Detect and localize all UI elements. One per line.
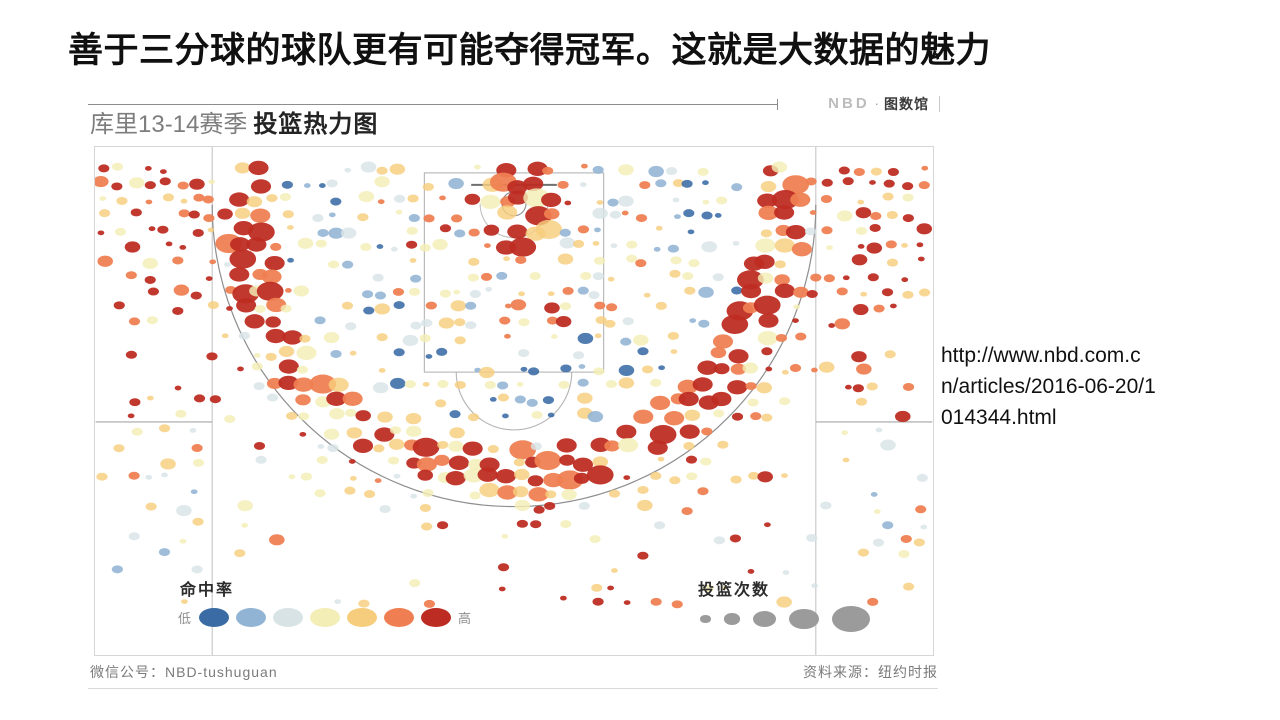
shot-zone-marker	[717, 441, 728, 449]
shot-zone-marker	[283, 210, 294, 218]
shot-zone-marker	[229, 249, 256, 268]
shot-zone-marker	[157, 226, 168, 234]
shot-zone-marker	[342, 261, 353, 269]
shot-zone-marker	[463, 441, 483, 455]
shot-zone-marker	[517, 382, 524, 387]
shot-zone-marker	[178, 182, 189, 190]
shot-zone-marker	[856, 363, 872, 374]
shot-zone-marker	[637, 347, 648, 355]
shot-zone-marker	[374, 176, 390, 187]
shot-zone-marker	[543, 396, 554, 404]
shot-zone-marker	[698, 287, 714, 298]
shot-zone-marker	[226, 306, 233, 311]
shot-zone-marker	[887, 211, 898, 219]
shot-zone-marker	[561, 489, 577, 500]
shot-zone-marker	[409, 288, 420, 296]
shot-zone-marker	[297, 366, 308, 374]
shot-zone-marker	[793, 287, 809, 298]
shot-zone-marker	[666, 167, 677, 175]
shot-zone-marker	[783, 570, 790, 575]
shot-zone-marker	[622, 211, 629, 216]
shot-zone-marker	[903, 214, 914, 222]
brand-separator: ·	[875, 96, 879, 112]
shot-zone-marker	[314, 316, 325, 324]
shot-zone-marker	[131, 208, 142, 216]
brand-publisher: 图数馆	[884, 96, 929, 112]
shot-zone-marker	[531, 442, 542, 450]
shot-zone-marker	[792, 242, 812, 256]
shot-zone-marker	[129, 177, 145, 188]
shot-zone-marker	[394, 348, 405, 356]
shot-zone-marker	[485, 381, 496, 389]
legend-fg-title: 命中率	[178, 576, 472, 600]
legend-attempts-dot-1	[724, 613, 741, 625]
shot-zone-marker	[618, 196, 634, 207]
shot-zone-marker	[775, 238, 795, 252]
shot-zone-marker	[237, 500, 253, 511]
shot-zone-marker	[327, 179, 338, 187]
shot-zone-marker	[548, 413, 555, 418]
shot-zone-marker	[790, 193, 810, 207]
shot-zone-marker	[841, 430, 848, 435]
shot-zone-marker	[714, 363, 730, 374]
shot-zone-marker	[286, 412, 297, 420]
shot-zone-marker	[342, 302, 353, 310]
shot-zone-marker	[406, 241, 417, 249]
shot-zone-marker	[580, 272, 591, 280]
shot-zone-marker	[147, 396, 154, 401]
shot-zone-marker	[350, 476, 357, 481]
shot-zone-marker	[299, 432, 306, 437]
shot-zone-marker	[374, 303, 390, 314]
legend-fg-swatch-2	[273, 608, 303, 627]
shot-zone-marker	[353, 439, 373, 453]
shot-zone-marker	[917, 223, 933, 234]
shot-zone-marker	[901, 277, 908, 282]
shot-zone-marker	[454, 229, 465, 237]
shot-zone-marker	[728, 349, 748, 363]
header-tick	[777, 99, 778, 110]
shot-zone-marker	[408, 195, 419, 203]
shot-zone-marker	[432, 239, 448, 250]
shot-zone-marker	[731, 183, 742, 191]
shot-zone-marker	[593, 367, 604, 375]
shot-zone-marker	[730, 476, 741, 484]
shot-zone-marker	[497, 381, 508, 389]
shot-zone-marker	[407, 227, 418, 235]
shot-zone-marker	[623, 317, 634, 325]
shot-zone-marker	[362, 290, 373, 298]
shot-zone-marker	[344, 487, 355, 495]
shot-zone-marker	[921, 166, 928, 171]
shot-zone-marker	[317, 444, 324, 449]
shot-zone-marker	[237, 367, 244, 372]
shot-zone-marker	[465, 321, 476, 329]
shot-zone-marker	[563, 287, 574, 295]
shot-zone-marker	[507, 224, 527, 238]
shot-zone-marker	[125, 241, 141, 252]
shot-zone-marker	[654, 247, 661, 252]
shot-zone-marker	[282, 181, 293, 189]
shot-zone-marker	[558, 181, 569, 189]
shot-zone-marker	[626, 255, 637, 263]
brand-name: NBD	[828, 96, 870, 112]
shot-zone-marker	[501, 534, 508, 539]
shot-zone-marker	[192, 565, 203, 573]
shot-zone-marker	[852, 254, 868, 265]
shot-zone-marker	[420, 334, 431, 342]
shot-zone-marker	[871, 492, 878, 497]
shot-zone-marker	[807, 290, 818, 298]
shot-zone-marker	[548, 291, 555, 296]
shot-zone-marker	[901, 243, 908, 248]
shot-zone-marker	[394, 474, 401, 479]
shot-zone-marker	[413, 438, 440, 457]
shot-zone-marker	[498, 394, 509, 402]
shot-zone-marker	[867, 382, 878, 390]
shot-zone-marker	[330, 350, 341, 358]
shot-zone-marker	[578, 333, 594, 344]
shot-zone-marker	[839, 167, 850, 175]
shot-zone-marker	[163, 193, 174, 201]
shot-zone-marker	[192, 518, 203, 526]
shot-zone-marker	[266, 194, 277, 202]
shot-zone-marker	[594, 257, 605, 265]
shot-zone-marker	[142, 258, 158, 269]
shot-zone-marker	[449, 427, 465, 438]
shot-zone-marker	[664, 411, 684, 425]
shot-zone-marker	[451, 214, 462, 222]
shot-zone-marker	[521, 367, 528, 372]
shot-zone-marker	[902, 194, 913, 202]
shot-zone-marker	[608, 277, 615, 282]
shot-zone-marker	[129, 472, 140, 480]
shot-zone-marker	[588, 411, 604, 422]
shot-zone-marker	[854, 168, 865, 176]
shot-zone-marker	[579, 364, 586, 369]
shot-zone-marker	[559, 455, 575, 466]
shot-zone-marker	[396, 210, 403, 215]
shot-zone-marker	[222, 333, 229, 338]
shot-zone-marker	[873, 539, 884, 547]
shot-zone-marker	[888, 168, 899, 176]
infographic-card: NBD · 图数馆 库里13-14赛季投篮热力图 命中率 低 高 投篮次数 微信…	[84, 96, 942, 696]
shot-zone-marker	[281, 305, 292, 313]
shot-zone-marker	[96, 473, 107, 481]
shot-zone-marker	[189, 211, 200, 219]
header-rule	[88, 104, 778, 105]
shot-zone-marker	[497, 205, 517, 219]
shot-zone-marker	[733, 241, 740, 246]
shot-zone-marker	[146, 503, 157, 511]
legend-attempts-dot-4	[832, 606, 870, 632]
shot-zone-marker	[713, 273, 724, 281]
shot-zone-marker	[319, 183, 326, 188]
shot-zone-marker	[147, 316, 158, 324]
shot-zone-marker	[670, 256, 681, 264]
shot-zone-marker	[282, 330, 302, 344]
shot-zone-marker	[149, 226, 156, 231]
shot-zone-marker	[593, 166, 604, 174]
shot-zone-marker	[714, 536, 725, 544]
shot-zone-marker	[619, 377, 635, 388]
shot-zone-marker	[757, 471, 773, 482]
shot-zone-marker	[560, 364, 571, 372]
shot-zone-marker	[446, 471, 466, 485]
footer-wechat: 微信公号：NBD-tushuguan	[90, 662, 278, 682]
shot-zone-marker	[496, 469, 516, 483]
shot-zone-marker	[405, 380, 416, 388]
shot-zone-marker	[764, 522, 771, 527]
shot-zone-marker	[409, 214, 420, 222]
shot-zone-marker	[776, 334, 787, 342]
shot-zone-marker	[474, 165, 481, 170]
shot-zone-marker	[564, 201, 571, 206]
shot-zone-marker	[192, 444, 203, 452]
shot-zone-marker	[597, 200, 604, 205]
shot-zone-marker	[265, 316, 281, 327]
shot-zone-marker	[345, 409, 356, 417]
shot-zone-marker	[349, 459, 356, 464]
shot-zone-marker	[682, 507, 693, 515]
shot-zone-marker	[786, 225, 806, 239]
shot-zone-marker	[594, 302, 605, 310]
shot-zone-marker	[129, 317, 140, 325]
shot-zone-marker	[246, 237, 266, 251]
shot-zone-marker	[701, 212, 712, 220]
shot-zone-marker	[126, 271, 137, 279]
shot-zone-marker	[481, 273, 492, 281]
shot-zone-marker	[682, 272, 693, 280]
shot-zone-marker	[713, 409, 724, 417]
shot-zone-marker	[901, 535, 912, 543]
legend-fg-swatch-4	[347, 608, 377, 627]
infographic-header: NBD · 图数馆 库里13-14赛季投篮热力图	[84, 96, 942, 148]
shot-zone-marker	[343, 392, 363, 406]
shot-zone-marker	[639, 181, 650, 189]
shot-zone-marker	[360, 243, 371, 251]
shot-zone-marker	[793, 304, 800, 309]
shot-zone-marker	[518, 291, 525, 296]
shot-zone-marker	[684, 287, 695, 295]
shot-zone-marker	[843, 458, 850, 463]
shot-zone-marker	[287, 258, 294, 263]
shot-zone-marker	[254, 442, 265, 450]
shot-zone-marker	[265, 256, 285, 270]
shot-zone-marker	[556, 316, 572, 327]
shot-zone-marker	[449, 410, 460, 418]
legend-attempts-dot-3	[789, 609, 818, 629]
shot-zone-marker	[518, 318, 529, 326]
shot-zone-marker	[606, 380, 617, 388]
shot-zone-marker	[541, 193, 561, 207]
shot-zone-marker	[229, 267, 249, 281]
shot-zone-marker	[544, 302, 560, 313]
shot-zone-marker	[317, 456, 328, 464]
shot-zone-marker	[406, 426, 422, 437]
shot-zone-marker	[514, 469, 530, 480]
shot-zone-marker	[822, 179, 833, 187]
shot-zone-marker	[679, 392, 699, 406]
chart-title-main: 投篮热力图	[253, 111, 378, 138]
shot-zone-marker	[702, 180, 709, 185]
shot-zone-marker	[420, 244, 431, 252]
shot-zone-marker	[224, 415, 235, 423]
shot-zone-marker	[732, 413, 743, 421]
slide-title: 善于三分球的球队更有可能夺得冠军。这就是大数据的魅力	[68, 28, 1108, 74]
shot-zone-marker	[112, 163, 123, 171]
shot-zone-marker	[453, 290, 460, 295]
shot-zone-marker	[518, 349, 529, 357]
shot-zone-marker	[557, 438, 577, 452]
legend-fg-high-label: 高	[458, 608, 472, 627]
shot-zone-marker	[743, 362, 759, 373]
shot-zone-marker	[887, 259, 898, 267]
shot-zone-marker	[375, 292, 386, 300]
shot-zone-marker	[748, 569, 755, 574]
shot-zone-marker	[488, 445, 499, 453]
shot-zone-marker	[145, 475, 152, 480]
shot-zone-marker	[683, 442, 694, 450]
shot-zone-marker	[239, 332, 250, 340]
shot-zone-marker	[810, 274, 821, 282]
shot-zone-marker	[403, 335, 419, 346]
shot-zone-marker	[635, 259, 646, 267]
shot-zone-marker	[206, 276, 213, 281]
shot-zone-marker	[648, 441, 668, 455]
shot-zone-marker	[410, 322, 421, 330]
shot-zone-marker	[426, 302, 437, 310]
shot-zone-marker	[711, 347, 727, 358]
shot-zone-marker	[673, 198, 680, 203]
shot-zone-marker	[299, 335, 310, 343]
shot-zone-marker	[451, 300, 467, 311]
shot-zone-marker	[843, 177, 854, 185]
shot-zone-marker	[669, 476, 680, 484]
shot-zone-marker	[535, 220, 562, 239]
shot-zone-marker	[573, 351, 584, 359]
shot-zone-marker	[772, 162, 788, 173]
legend-row: 命中率 低 高 投篮次数	[84, 576, 942, 646]
shot-zone-marker	[656, 302, 667, 310]
shot-zone-marker	[329, 408, 345, 419]
shot-zone-marker	[578, 287, 589, 295]
shot-zone-marker	[618, 438, 638, 452]
shot-zone-marker	[745, 382, 756, 390]
shot-zone-marker	[890, 304, 897, 309]
shot-zone-marker	[468, 413, 479, 421]
shot-zone-marker	[774, 205, 794, 219]
shot-zone-marker	[330, 198, 341, 206]
shot-zone-marker	[479, 483, 499, 497]
shot-zone-marker	[469, 229, 480, 237]
shot-zone-marker	[697, 487, 708, 495]
shot-zone-marker	[115, 228, 126, 236]
shot-zone-marker	[545, 490, 556, 498]
shot-zone-marker	[604, 440, 620, 451]
shot-zone-marker	[193, 229, 204, 237]
shot-zone-marker	[698, 320, 709, 328]
shot-zone-marker	[685, 410, 701, 421]
shot-zone-marker	[668, 245, 679, 253]
shot-zone-marker	[179, 245, 186, 250]
shot-zone-marker	[857, 200, 864, 205]
shot-zone-marker	[423, 382, 430, 387]
shot-zone-marker	[301, 473, 312, 481]
shot-zone-marker	[98, 164, 109, 172]
shot-zone-marker	[581, 164, 588, 169]
shot-zone-marker	[146, 200, 153, 205]
shot-zone-marker	[377, 244, 384, 249]
shot-zone-marker	[821, 226, 832, 234]
shot-zone-marker	[633, 335, 649, 346]
shot-zone-marker	[224, 262, 231, 267]
shot-zone-marker	[312, 214, 323, 222]
shot-zone-marker	[390, 378, 406, 389]
shot-zone-marker	[611, 568, 618, 573]
shot-zone-marker	[573, 240, 584, 248]
legend-attempts-dot-0	[700, 615, 711, 622]
shot-zone-marker	[688, 259, 699, 267]
shot-zone-marker	[437, 441, 448, 449]
shot-zone-marker	[618, 164, 634, 175]
shot-zone-marker	[267, 394, 278, 402]
legend-fg-swatch-3	[310, 608, 340, 627]
shot-zone-marker	[774, 274, 790, 285]
shot-zone-marker	[886, 240, 897, 248]
shot-zone-marker	[604, 320, 615, 328]
shot-zone-marker	[811, 368, 818, 373]
shot-zone-marker	[324, 429, 340, 440]
shot-zone-marker	[279, 346, 295, 357]
shot-zone-marker	[361, 161, 377, 172]
shot-zone-marker	[469, 492, 480, 500]
shot-zone-marker	[298, 238, 314, 249]
shot-zone-marker	[209, 259, 216, 264]
shot-zone-marker	[517, 520, 528, 528]
shot-zone-marker	[235, 162, 251, 173]
shot-zone-marker	[440, 290, 451, 298]
shot-zone-marker	[758, 331, 778, 345]
shot-zone-marker	[761, 347, 772, 355]
shot-zone-marker	[593, 272, 604, 280]
shot-zone-marker	[194, 394, 205, 402]
shot-zone-marker	[420, 504, 431, 512]
shot-zone-marker	[686, 472, 697, 480]
shot-zone-marker	[248, 161, 268, 175]
shot-zone-marker	[544, 502, 555, 510]
shot-zone-marker	[592, 208, 608, 219]
shot-zone-marker	[514, 458, 525, 466]
shot-zone-marker	[357, 213, 368, 221]
shot-zone-marker	[619, 365, 635, 376]
shot-zone-marker	[824, 274, 835, 282]
shot-zone-marker	[298, 412, 309, 420]
shot-zone-marker	[148, 288, 159, 296]
shot-zone-marker	[560, 237, 576, 248]
shot-zone-marker	[579, 502, 590, 510]
shot-zone-marker	[455, 336, 466, 344]
shot-zone-marker	[479, 367, 495, 378]
shot-zone-marker	[856, 207, 872, 218]
shot-zone-marker	[498, 563, 509, 571]
shot-zone-marker	[116, 197, 127, 205]
shot-zone-marker	[363, 307, 374, 315]
shot-zone-marker	[132, 428, 143, 436]
shot-zone-marker	[871, 168, 882, 176]
shot-zone-marker	[203, 196, 214, 204]
shot-zone-marker	[633, 410, 653, 424]
